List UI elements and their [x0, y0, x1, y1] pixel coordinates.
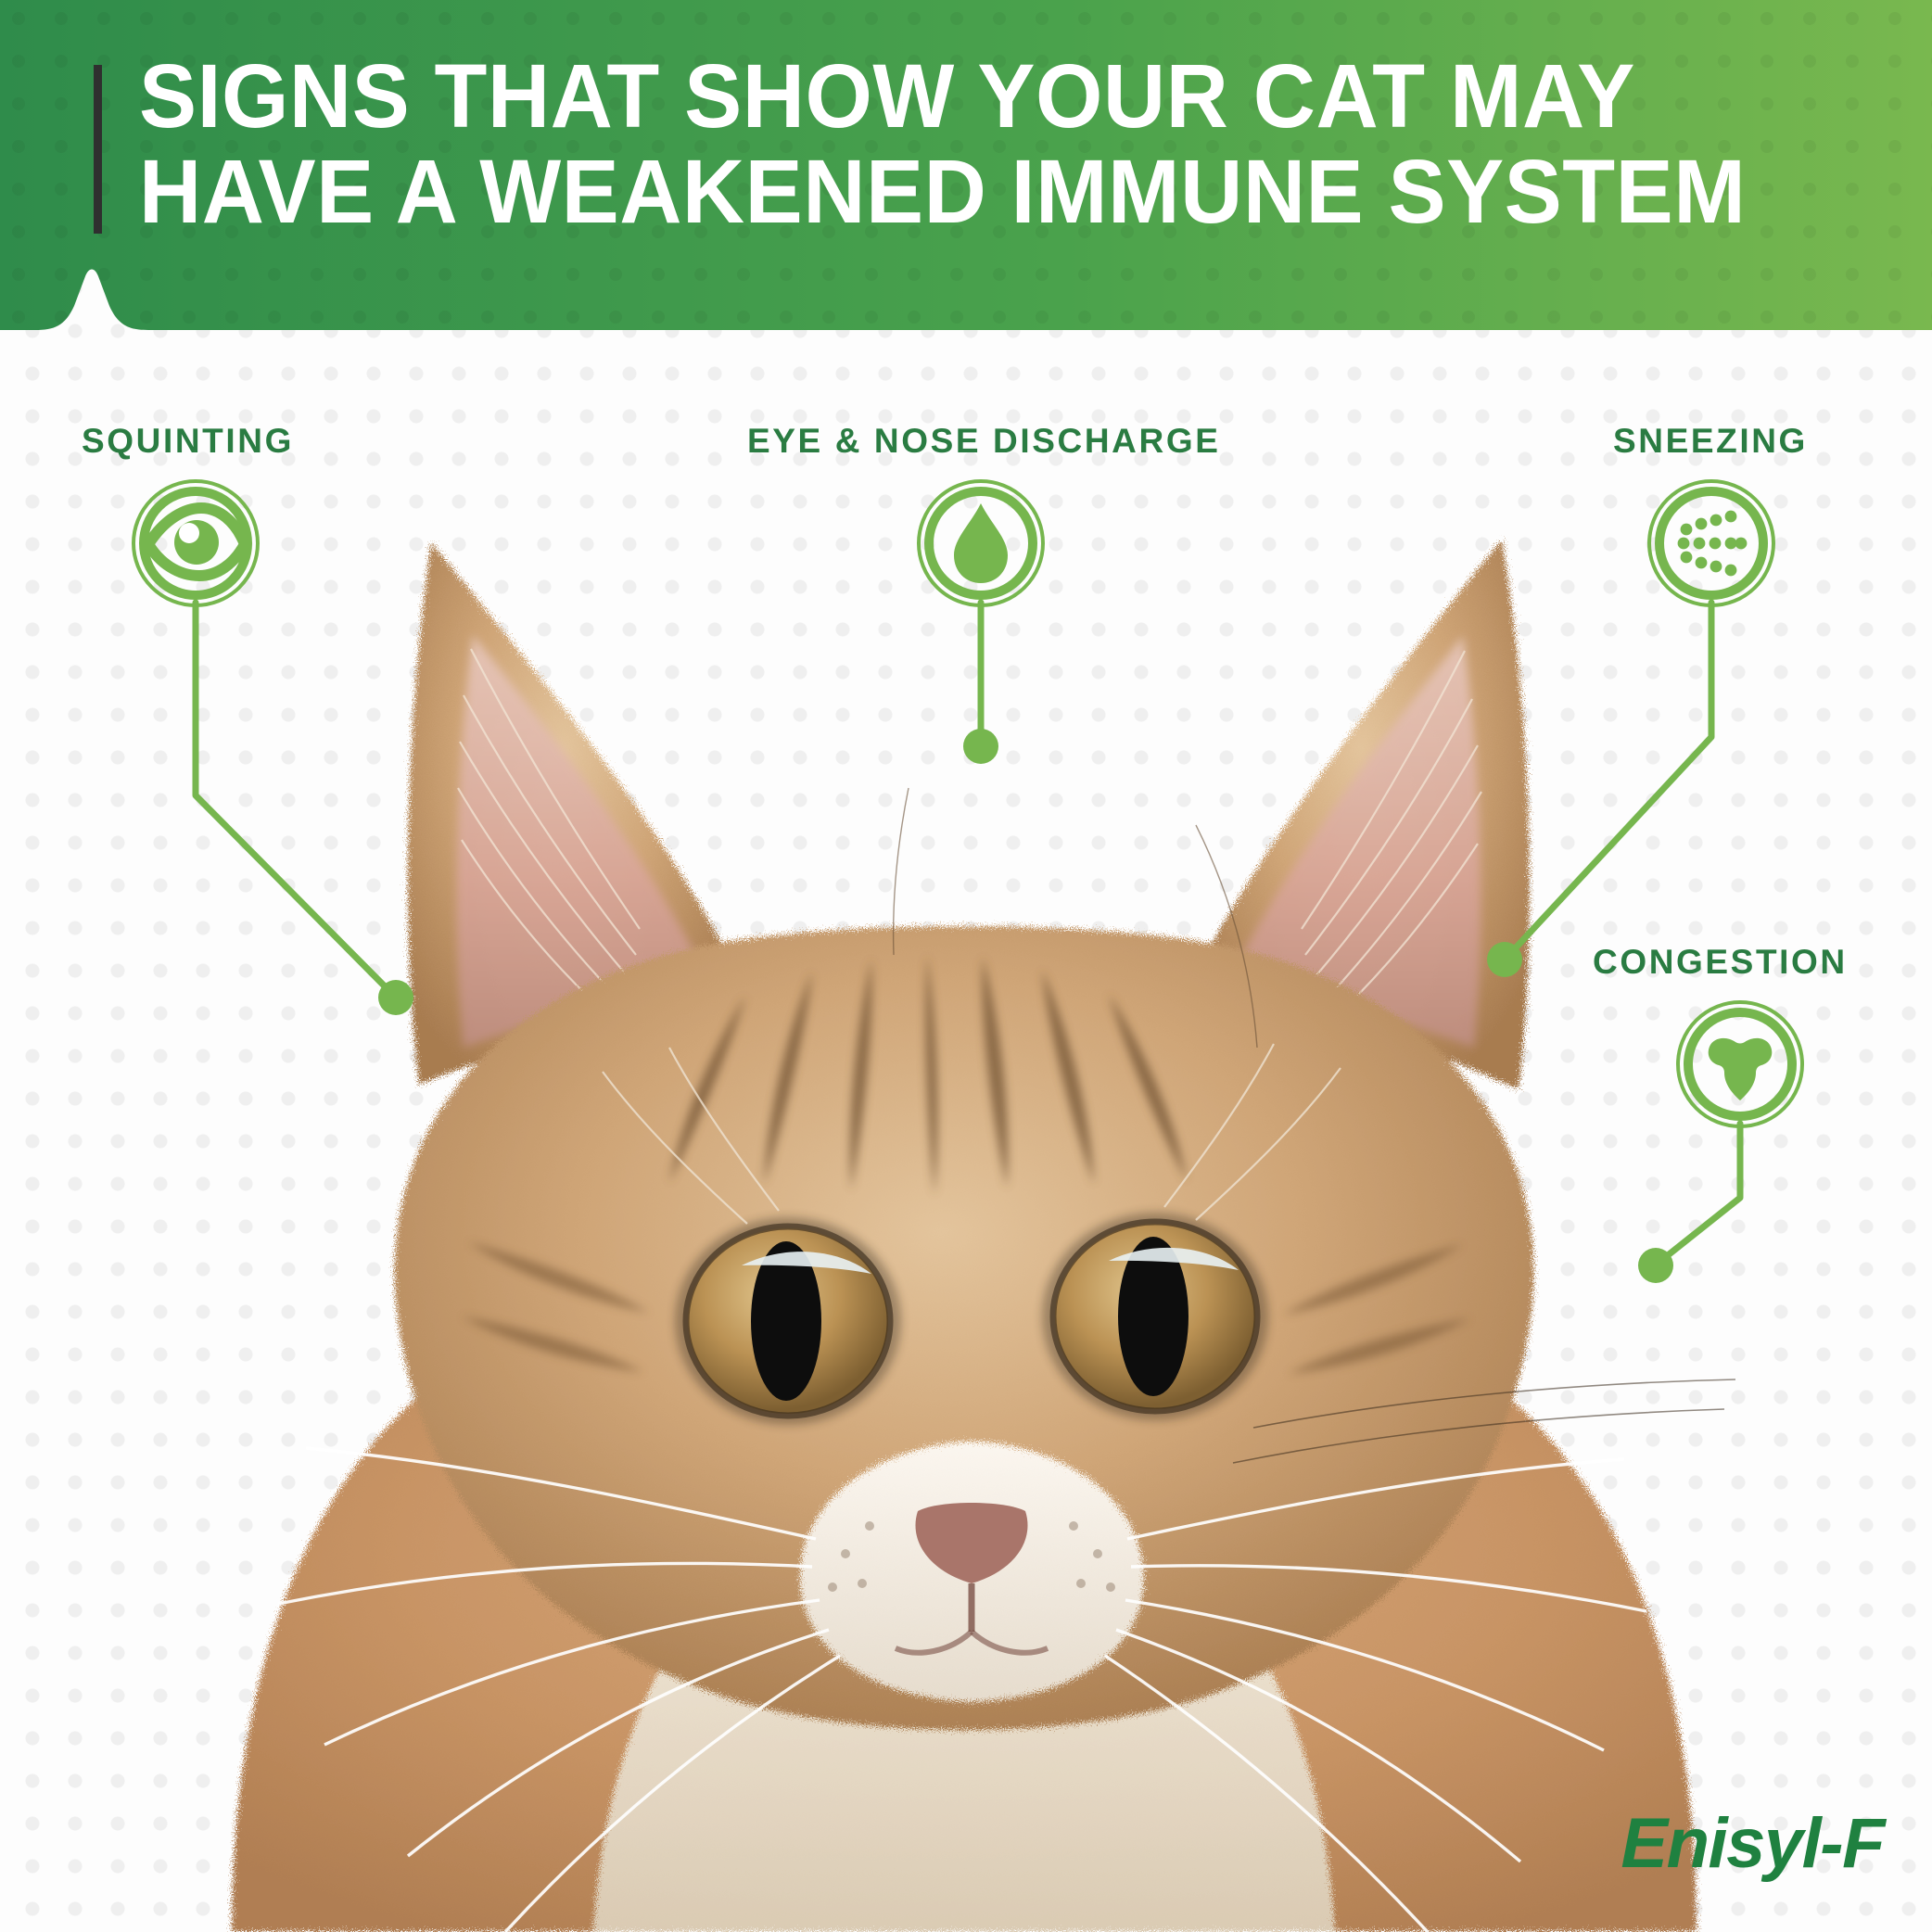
callout-label-congestion: CONGESTION [1593, 943, 1848, 982]
cat-nose-icon [1674, 998, 1806, 1130]
header-banner: SIGNS THAT SHOW YOUR CAT MAY HAVE A WEAK… [0, 0, 1932, 350]
sneeze-spray-icon [1646, 477, 1777, 609]
brand-logo-enisyl-f: Enisyl-F [1621, 1803, 1884, 1884]
callout-label-eye-nose-discharge: EYE & NOSE DISCHARGE [747, 422, 1220, 461]
water-drop-icon [915, 477, 1047, 609]
page-title: SIGNS THAT SHOW YOUR CAT MAY HAVE A WEAK… [139, 48, 1812, 239]
eye-icon [130, 477, 261, 609]
title-accent-bar [94, 65, 102, 234]
callout-label-sneezing: SNEEZING [1613, 422, 1808, 461]
callout-label-squinting: SQUINTING [82, 422, 294, 461]
infographic-poster: SIGNS THAT SHOW YOUR CAT MAY HAVE A WEAK… [0, 0, 1932, 1932]
